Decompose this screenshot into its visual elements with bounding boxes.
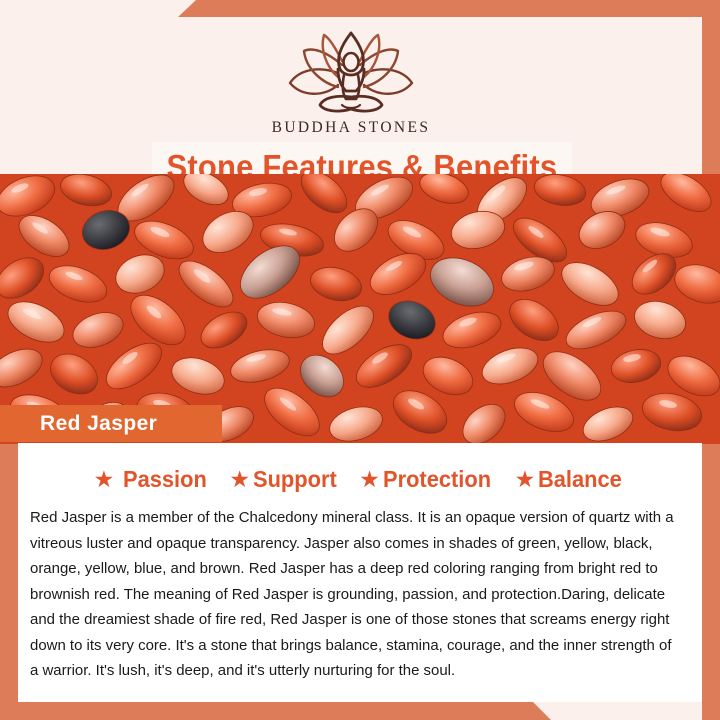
benefit-label: Support [253,466,337,493]
stone-description: Red Jasper is a member of the Chalcedony… [30,505,683,684]
benefit-label: Passion [123,466,207,493]
top-accent-bar [0,0,720,17]
header: BUDDHA STONES Stone Features & Benefits [0,17,702,175]
brand-name: BUDDHA STONES [0,119,702,137]
stone-name-label: Red Jasper [0,412,157,436]
stone-name-badge: Red Jasper [0,405,222,442]
star-icon: ★ [229,468,250,491]
stone-texture-graphic [0,174,720,444]
benefit-item-support: ★ Support [229,466,341,493]
red-jasper-photo [0,174,720,444]
star-icon: ★ [359,468,380,491]
benefit-label: Balance [538,466,622,493]
benefits-row: ★ Passion ★ Support ★ Protection ★ Balan… [18,466,702,493]
benefit-item-protection: ★ Protection [359,466,496,493]
infographic-page: BUDDHA STONES Stone Features & Benefits [0,0,720,720]
brand-logo: BUDDHA STONES [0,25,702,137]
benefit-item-balance: ★ Balance [515,466,627,493]
star-icon: ★ [94,468,115,491]
lotus-meditation-icon [276,25,426,117]
benefit-label: Protection [383,466,491,493]
star-icon: ★ [515,468,536,491]
benefit-item-passion: ★ Passion [94,466,212,493]
